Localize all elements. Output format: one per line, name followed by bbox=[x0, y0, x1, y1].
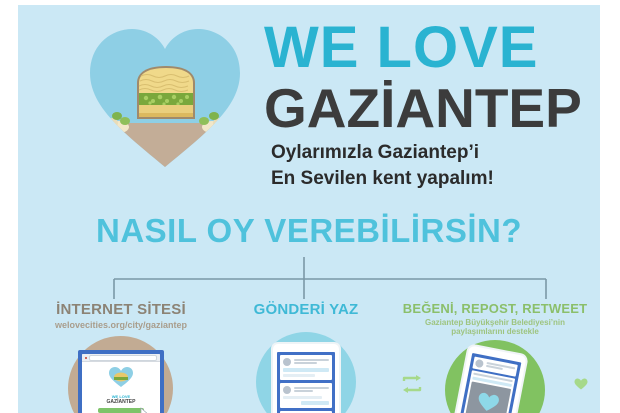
browser-window-mock[interactable]: WE LOVE GAZİANTEP bbox=[78, 350, 164, 413]
option-title-begeni-repost-retweet: BEĞENİ, REPOST, RETWEET bbox=[390, 301, 600, 316]
subtitle-line-1: Oylarımızla Gaziantep’i bbox=[271, 142, 479, 164]
post-meta-band bbox=[283, 396, 322, 399]
heart-small-icon bbox=[574, 378, 588, 390]
browser-favicon-icon bbox=[85, 357, 87, 359]
mini-heart-icon bbox=[108, 366, 134, 388]
retweet-icon bbox=[400, 374, 424, 394]
post-highlight-band bbox=[283, 368, 329, 372]
avatar bbox=[283, 386, 291, 394]
post-highlight-band bbox=[301, 401, 329, 405]
browser-url-bar[interactable] bbox=[89, 355, 157, 361]
hero-heart-illustration bbox=[84, 15, 246, 175]
avatar bbox=[475, 359, 484, 368]
option-url-welovecities[interactable]: welovecities.org/city/gaziantep bbox=[26, 320, 216, 330]
options-row: İNTERNET SİTESİ welovecities.org/city/ga… bbox=[18, 301, 600, 413]
post-text-lines bbox=[294, 359, 329, 365]
option-title-gonderi-yaz: GÖNDERİ YAZ bbox=[216, 301, 396, 318]
browser-viewport: WE LOVE GAZİANTEP bbox=[82, 354, 160, 413]
option-title-internet-sitesi: İNTERNET SİTESİ bbox=[26, 301, 216, 318]
browser-toolbar bbox=[82, 354, 160, 362]
option-begeni-repost-retweet[interactable]: BEĞENİ, REPOST, RETWEET Gaziantep Büyükş… bbox=[390, 301, 600, 413]
phone-social-feed-mock[interactable] bbox=[271, 342, 341, 413]
heart-icon bbox=[476, 391, 501, 413]
mini-brand-gaziantep: GAZİANTEP bbox=[82, 399, 160, 405]
mouse-cursor-icon bbox=[140, 407, 150, 413]
option-note-line-1: Gaziantep Büyükşehir Belediyesi’nin bbox=[390, 318, 600, 327]
headline-gaziantep: GAZİANTEP bbox=[264, 81, 582, 136]
post-text-lines bbox=[294, 387, 329, 393]
option-note-line-2: paylaşımlarını destekle bbox=[390, 327, 600, 336]
question-heading: NASIL OY VEREBİLİRSİN? bbox=[18, 213, 600, 249]
phone-screen bbox=[455, 353, 521, 413]
headline-we-love: WE LOVE bbox=[264, 19, 538, 77]
mini-vote-button[interactable] bbox=[98, 408, 144, 413]
bracket-connector bbox=[18, 257, 600, 299]
poster-canvas: WE LOVE GAZİANTEP Oylarımızla Gaziantep’… bbox=[18, 5, 600, 413]
option-gonderi-yaz[interactable]: GÖNDERİ YAZ bbox=[216, 301, 396, 413]
post-meta-band bbox=[283, 374, 315, 377]
subtitle-line-2: En Sevilen kent yapalım! bbox=[271, 168, 494, 190]
post-text-lines bbox=[486, 362, 516, 373]
post-body bbox=[463, 370, 515, 413]
baklava-icon bbox=[128, 61, 204, 123]
avatar bbox=[283, 358, 291, 366]
phone-screen bbox=[277, 352, 335, 413]
feed-post-item[interactable] bbox=[280, 383, 332, 408]
option-internet-sitesi[interactable]: İNTERNET SİTESİ welovecities.org/city/ga… bbox=[26, 301, 216, 413]
browser-page-content: WE LOVE GAZİANTEP bbox=[82, 362, 160, 413]
post-image bbox=[465, 381, 511, 413]
feed-post-item[interactable] bbox=[280, 355, 332, 380]
